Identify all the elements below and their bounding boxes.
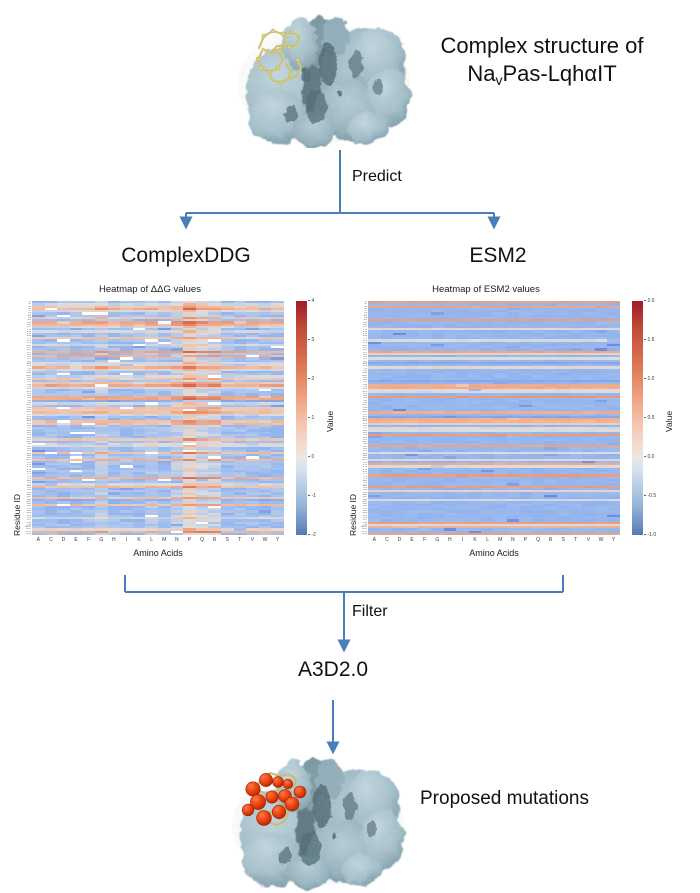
heatmap-cell [95,533,108,535]
x-tick-label: C [381,537,394,543]
heatmap-cell [221,533,234,535]
heatmap-cell [570,533,583,535]
heatmap-cell [431,533,444,535]
filter-tool-label: A3D2.0 [233,658,433,682]
heatmap-cell [133,533,146,535]
protein-surface-bottom [222,740,408,892]
esm2-colorbar-title: Value [664,411,674,432]
heatmap-cell [183,533,196,535]
heatmap-cell [507,533,520,535]
method-label-esm2: ESM2 [398,244,598,268]
x-tick-label: Y [271,537,284,543]
x-tick-label: D [393,537,406,543]
x-tick-label: D [57,537,70,543]
y-tick-label: V97 [363,519,367,521]
x-tick-label: L [481,537,494,543]
heatmap-cell [544,533,557,535]
heatmap-cell [456,533,469,535]
heatmap-cell [271,533,284,535]
x-tick-label: S [221,537,234,543]
heatmap-cell [196,533,209,535]
x-tick-label: Q [532,537,545,543]
predict-label: Predict [352,168,402,186]
complexddg-x-tick-labels: ACDEFGHIKLMNPQRSTVWY [32,537,284,543]
heatmap-cell [120,533,133,535]
x-tick-label: V [582,537,595,543]
x-tick-label: K [133,537,146,543]
heatmap-cell [57,533,70,535]
y-tick-label: H33 [27,372,31,374]
output-label: Proposed mutations [420,788,589,810]
method-label-complexddg: ComplexDDG [60,244,312,268]
y-tick-label: M50 [363,411,367,413]
y-tick-label: Q87 [363,496,367,498]
complexddg-colorbar-title: Value [325,411,335,432]
x-tick-label: N [171,537,184,543]
heatmap-cell [368,533,381,535]
panel-esm2: Heatmap of ESM2 values Residue ID T1S2G3… [344,284,684,574]
y-tick-label: D22 [363,349,367,351]
x-tick-label: G [431,537,444,543]
x-tick-label: C [45,537,58,543]
heatmap-cell [158,533,171,535]
esm2-heatmap-title: Heatmap of ESM2 values [344,284,628,295]
x-tick-label: A [368,537,381,543]
x-tick-label: F [418,537,431,543]
x-tick-label: K [469,537,482,543]
x-tick-label: H [108,537,121,543]
x-tick-label: E [70,537,83,543]
y-tick-label: T60 [363,434,367,436]
x-tick-label: N [507,537,520,543]
heatmap-cell [82,533,95,535]
heatmap-cell [381,533,394,535]
heatmap-cell [108,533,121,535]
heatmap-cell [70,533,83,535]
complexddg-x-axis-title: Amino Acids [32,548,284,558]
esm2-heatmap-grid [368,301,620,535]
y-tick-label: T60 [27,434,31,436]
x-tick-label: I [120,537,133,543]
x-tick-label: R [544,537,557,543]
heatmap-cell [145,533,158,535]
x-tick-label: F [82,537,95,543]
x-tick-label: T [570,537,583,543]
x-tick-label: H [444,537,457,543]
complexddg-y-tick-labels: T1S2G3V4L5P6A7N8W9K10G11F12Y13R14E15N16T… [17,301,31,535]
heatmap-cell [32,533,45,535]
x-tick-label: P [519,537,532,543]
x-tick-label: V [246,537,259,543]
heatmap-cell [259,533,272,535]
predict-connector [186,150,494,223]
x-tick-label: G [95,537,108,543]
x-tick-label: S [557,537,570,543]
esm2-colorbar [632,301,643,535]
heatmap-cell [469,533,482,535]
panel-complexddg: Heatmap of ΔΔG values Residue ID T1S2G3V… [8,284,328,574]
x-tick-label: Y [607,537,620,543]
heatmap-cell [393,533,406,535]
y-tick-label: M50 [27,411,31,413]
esm2-x-tick-labels: ACDEFGHIKLMNPQRSTVWY [368,537,620,543]
complexddg-colorbar [296,301,307,535]
x-tick-label: A [32,537,45,543]
heatmap-cell [208,533,221,535]
x-tick-label: W [595,537,608,543]
esm2-y-tick-labels: T1S2G3V4L5P6A7N8W9K10G11F12Y13R14E15N16T… [353,301,367,535]
heatmap-cell [418,533,431,535]
heatmap-cell [45,533,58,535]
x-tick-label: P [183,537,196,543]
x-tick-label: W [259,537,272,543]
filter-connector [125,575,563,646]
heatmap-cell [607,533,620,535]
heatmap-cell [444,533,457,535]
esm2-x-axis-title: Amino Acids [368,548,620,558]
x-tick-label: I [456,537,469,543]
x-tick-label: L [145,537,158,543]
y-tick-label: D22 [27,349,31,351]
heatmap-cell [171,533,184,535]
y-tick-label: V97 [27,519,31,521]
heatmap-cell [234,533,247,535]
y-tick-label: Q87 [27,496,31,498]
heatmap-cell [519,533,532,535]
heatmap-cell [494,533,507,535]
heatmap-cell [557,533,570,535]
x-tick-label: R [208,537,221,543]
complexddg-heatmap-title: Heatmap of ΔΔG values [8,284,292,295]
heatmap-cell [246,533,259,535]
x-tick-label: M [494,537,507,543]
x-tick-label: M [158,537,171,543]
heatmap-cell [582,533,595,535]
complexddg-heatmap-grid [32,301,284,535]
x-tick-label: Q [196,537,209,543]
filter-label: Filter [352,603,388,621]
heatmap-cell [595,533,608,535]
heatmap-cell [481,533,494,535]
heatmap-cell [532,533,545,535]
heatmap-cell [406,533,419,535]
structure-bottom [222,740,408,892]
y-tick-label: H33 [363,372,367,374]
x-tick-label: T [234,537,247,543]
x-tick-label: E [406,537,419,543]
